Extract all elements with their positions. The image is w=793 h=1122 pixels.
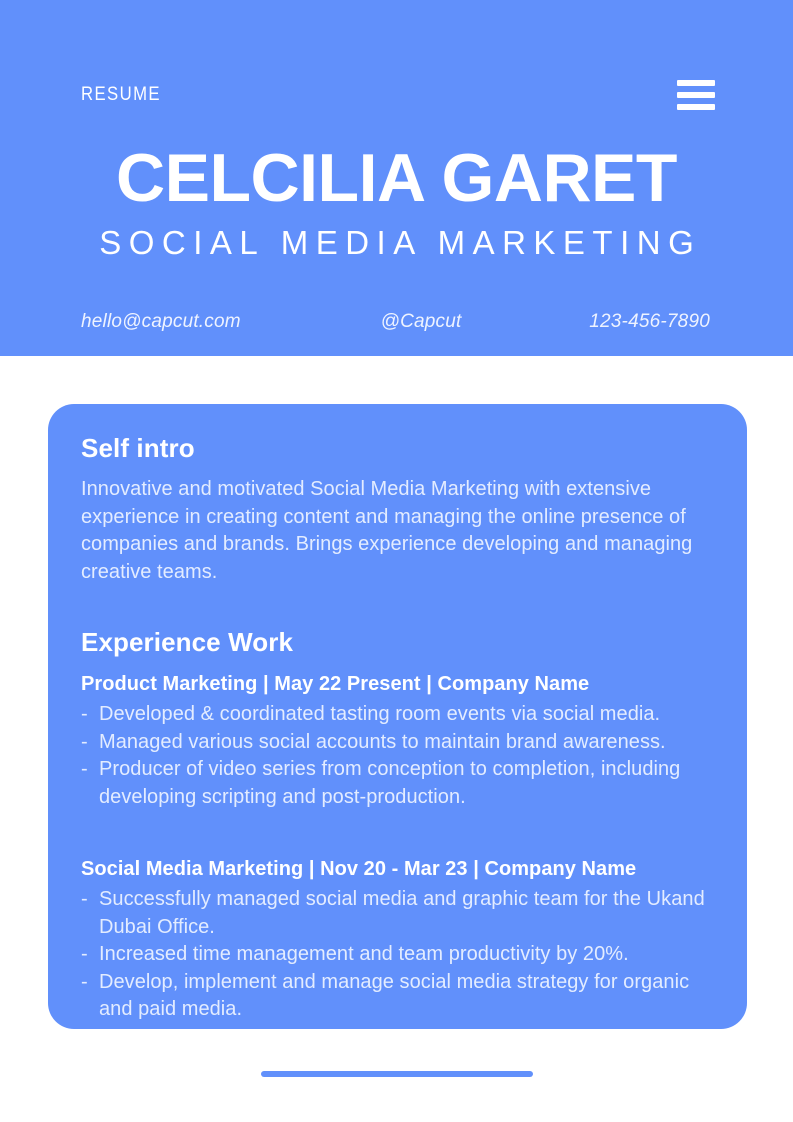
job-title: Product Marketing | May 22 Present | Com… [81,671,714,698]
resume-content-card: Self intro Innovative and motivated Soci… [48,404,747,1029]
candidate-name: CELCILIA GARET [0,142,793,214]
job-bullet-list: Successfully managed social media and gr… [81,886,714,1024]
resume-page: RESUME CELCILIA GARET SOCIAL MEDIA MARKE… [0,0,793,1122]
contact-social-handle[interactable]: @Capcut [381,311,462,333]
contact-row: hello@capcut.com @Capcut 123-456-7890 [81,311,712,333]
contact-email[interactable]: hello@capcut.com [81,311,241,333]
hamburger-bar-3 [677,104,715,110]
job-bullet: Develop, implement and manage social med… [81,969,713,1024]
job-bullet: Successfully managed social media and gr… [81,886,713,941]
experience-job-2: Social Media Marketing | Nov 20 - Mar 23… [81,856,714,1024]
contact-phone[interactable]: 123-456-7890 [589,311,710,333]
header-top-bar: RESUME [81,74,715,116]
hamburger-menu-icon[interactable] [677,80,715,110]
hamburger-bar-2 [677,92,715,98]
job-bullet: Managed various social accounts to maint… [81,729,713,757]
home-indicator-bar[interactable] [261,1071,533,1077]
experience-section: Experience Work Product Marketing | May … [81,626,714,1024]
job-bullet-list: Developed & coordinated tasting room eve… [81,701,714,811]
job-bullet: Producer of video series from conception… [81,756,713,811]
experience-job-1: Product Marketing | May 22 Present | Com… [81,671,714,811]
candidate-job-title: SOCIAL MEDIA MARKETING [0,224,793,262]
self-intro-heading: Self intro [81,432,714,464]
self-intro-body: Innovative and motivated Social Media Ma… [81,476,714,586]
resume-header: RESUME CELCILIA GARET SOCIAL MEDIA MARKE… [0,0,793,356]
resume-label: RESUME [81,84,161,106]
experience-heading: Experience Work [81,626,714,658]
job-bullet: Increased time management and team produ… [81,941,713,969]
hamburger-bar-1 [677,80,715,86]
job-bullet: Developed & coordinated tasting room eve… [81,701,713,729]
job-title: Social Media Marketing | Nov 20 - Mar 23… [81,856,714,883]
